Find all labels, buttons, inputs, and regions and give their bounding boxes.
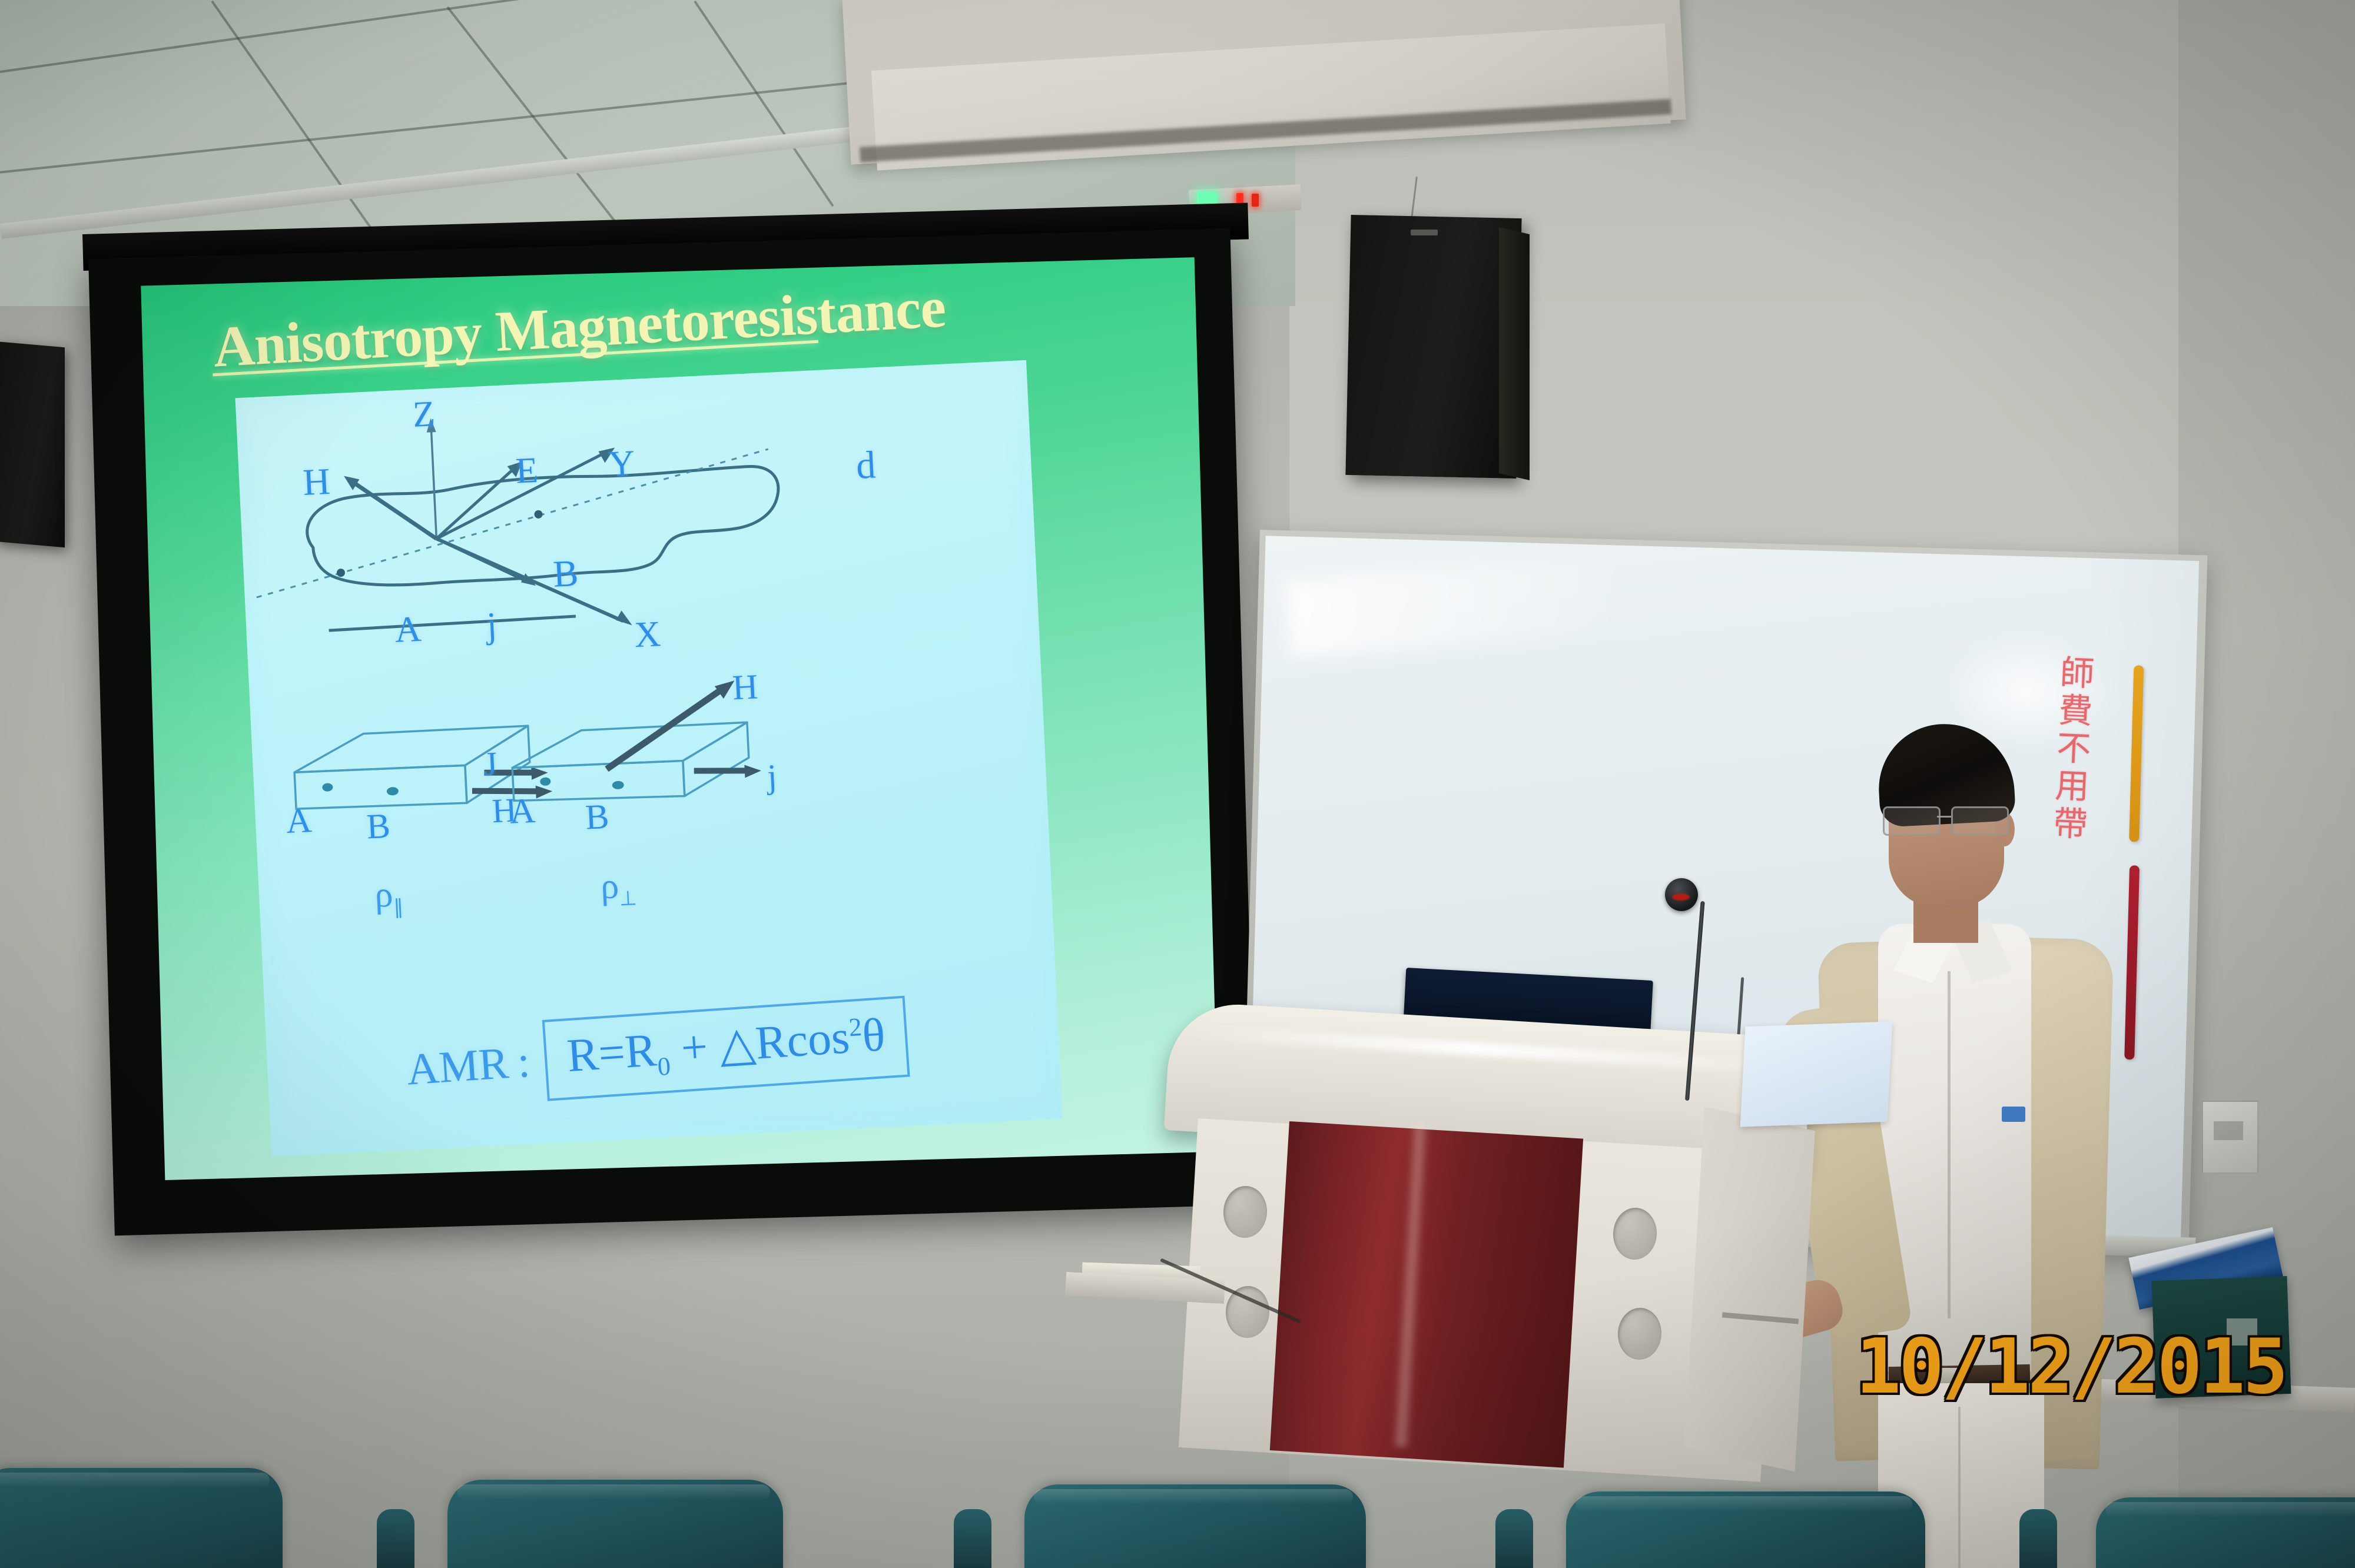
figure-label-x: X: [633, 613, 662, 656]
chair-highlight: [2105, 1502, 2355, 1517]
projection-screen: Anisotropy Magnetoresistance: [88, 228, 1256, 1236]
amr-equation-box: R=R0 + △Rcos2θ: [542, 996, 910, 1101]
amr-delta: △: [718, 1018, 757, 1072]
rho-symbol: ρ: [374, 875, 394, 915]
amr-plus: +: [679, 1021, 709, 1074]
lecture-hall-photo: Anisotropy Magnetoresistance: [0, 0, 2355, 1568]
microphone-indicator: [1672, 893, 1690, 901]
rho-symbol: ρ: [599, 866, 619, 906]
rho-subscript: ∥: [393, 896, 404, 919]
chair-armrest: [377, 1509, 414, 1568]
audience-chair[interactable]: [1566, 1491, 1925, 1568]
presenter: [1790, 724, 2119, 1568]
amr-equation-row: AMR : R=R0 + △Rcos2θ: [404, 996, 910, 1111]
audience-chair[interactable]: [0, 1468, 283, 1568]
figure-label-e: E: [515, 450, 539, 493]
chair-highlight: [0, 1473, 270, 1488]
shirt-placket: [1948, 971, 1951, 1318]
slide-title: Anisotropy Magnetoresistance: [211, 274, 947, 380]
chair-armrest: [2019, 1509, 2057, 1568]
figure-label-a: A: [394, 609, 422, 652]
chair-highlight: [457, 1484, 770, 1500]
amr-rhs-superscript: 2: [848, 1012, 863, 1042]
podium-side-panel: [1684, 1107, 1815, 1471]
whiteboard-glare: [1285, 555, 1619, 657]
slide-figure-panel: Z H E Y d B A j X: [235, 360, 1062, 1157]
figure-label-b: B: [552, 552, 579, 596]
led-red-indicator: [1252, 194, 1259, 207]
amr-label: AMR :: [405, 1036, 532, 1095]
slab-left-resistivity: ρ∥: [374, 873, 404, 921]
figure-label-h: H: [302, 460, 331, 504]
wall-outlet-slot: [2214, 1121, 2243, 1140]
slab-left-label-b: B: [366, 806, 391, 848]
chair-highlight: [1034, 1489, 1353, 1504]
figure-label-j: j: [486, 605, 498, 647]
rho-subscript: ⊥: [619, 888, 637, 910]
slab-right-resistivity: ρ⊥: [599, 865, 637, 912]
audience-chair[interactable]: [447, 1480, 783, 1568]
glasses-lens-right: [1951, 806, 2009, 836]
glasses-icon: [1883, 806, 2018, 833]
trouser-seam: [1958, 1407, 1961, 1568]
wall-speaker-right: [1345, 215, 1521, 479]
figure-label-d: d: [855, 443, 877, 488]
audience-chair[interactable]: [1024, 1484, 1366, 1568]
presentation-slide: Anisotropy Magnetoresistance: [141, 257, 1218, 1180]
slab-right-label-current: j: [767, 756, 778, 796]
amr-lhs: R=R: [565, 1024, 658, 1082]
slab-right-label-a: A: [509, 790, 536, 832]
speaker-badge: [1411, 230, 1438, 235]
slab-right-label-b: B: [585, 796, 610, 838]
amr-theta: θ: [861, 1009, 887, 1062]
wall-speaker-right-side: [1499, 227, 1530, 480]
amr-lhs-subscript: 0: [656, 1052, 671, 1081]
figure-label-z: Z: [412, 393, 436, 436]
audience-chair[interactable]: [2096, 1497, 2355, 1568]
chair-armrest: [954, 1509, 991, 1568]
camera-date-stamp: 10/12/2015: [1856, 1323, 2286, 1411]
shirt-pocket-badge: [2002, 1107, 2025, 1122]
chair-armrest: [1495, 1509, 1533, 1568]
amr-rhs: Rcos: [754, 1011, 851, 1069]
whiteboard-marker-yellow[interactable]: [2129, 665, 2144, 842]
slab-right-label-field: H: [731, 666, 759, 708]
chair-highlight: [1575, 1496, 1912, 1511]
paper-sheet[interactable]: [1740, 1021, 1893, 1127]
glasses-lens-left: [1883, 806, 1941, 836]
glasses-bridge: [1937, 816, 1951, 818]
figure-label-y: Y: [608, 443, 636, 486]
wall-speaker-left: [0, 341, 65, 547]
slab-left-label-a: A: [285, 800, 313, 842]
whiteboard-marker-red[interactable]: [2124, 865, 2140, 1059]
